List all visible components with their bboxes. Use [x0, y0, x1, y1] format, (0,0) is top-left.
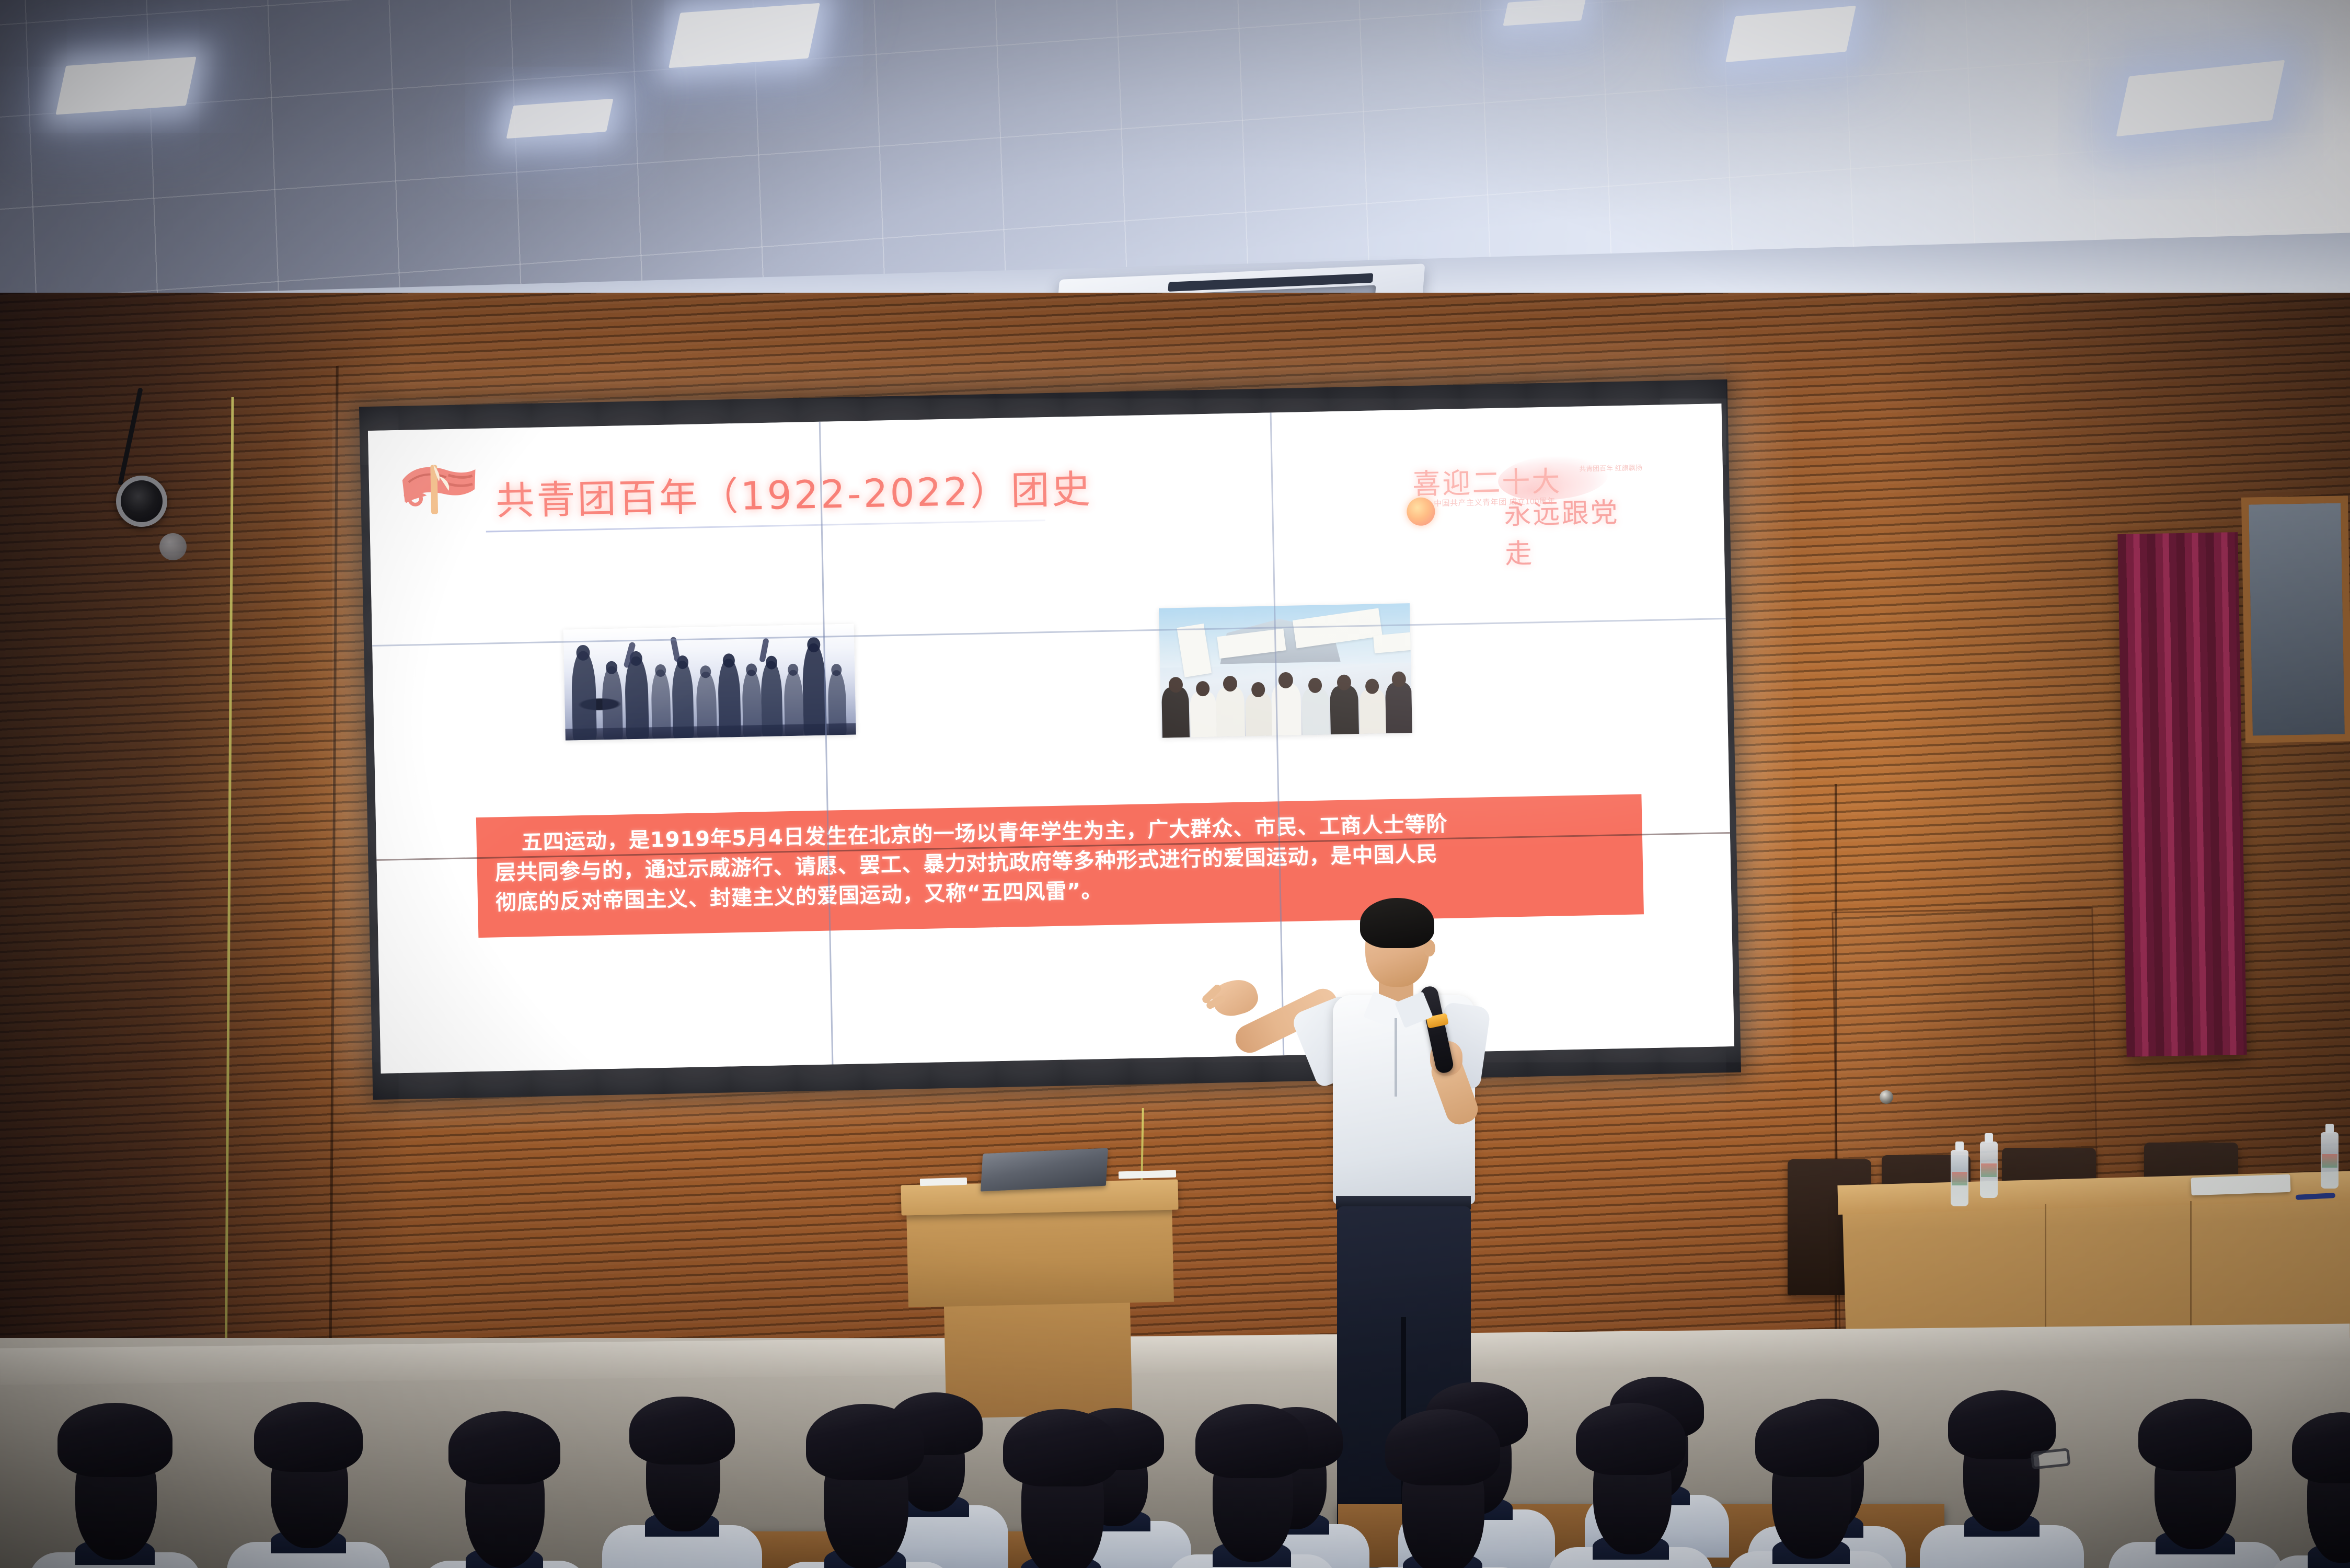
audience-member [1913, 1396, 2091, 1568]
door-knob-icon[interactable] [1880, 1090, 1893, 1104]
lecture-hall-scene: 共青团百年（1922-2022）团史 喜迎二十大 中国共产主义青年团 成立100… [0, 0, 2350, 1568]
papers[interactable] [2191, 1174, 2290, 1196]
window [2241, 495, 2350, 743]
led-panel-light [669, 3, 820, 68]
audience-member [220, 1406, 397, 1568]
audience-member [413, 1411, 596, 1568]
audience-member [21, 1406, 209, 1568]
audience-member [1160, 1406, 1343, 1568]
audience-member [2101, 1401, 2289, 1568]
wall-shadow-left [0, 293, 408, 1369]
water-bottle[interactable] [2321, 1132, 2339, 1189]
podium-paper [1119, 1170, 1176, 1179]
audience-member [596, 1401, 768, 1568]
water-bottle[interactable] [1980, 1142, 1998, 1198]
audience-member [2263, 1411, 2350, 1568]
audience-member [1542, 1406, 1720, 1568]
audience [0, 1270, 2350, 1568]
led-panel-light [55, 56, 196, 114]
audience-member [768, 1406, 962, 1568]
audience-member [1720, 1406, 1903, 1568]
audience-member [1349, 1411, 1537, 1568]
laptop[interactable] [981, 1148, 1108, 1191]
presenter-hair [1360, 898, 1434, 948]
wall-plate-icon [159, 533, 187, 560]
presenter-shirt-placket [1395, 1018, 1397, 1097]
audience-member [967, 1411, 1155, 1568]
wall-speaker-icon [116, 476, 167, 527]
water-bottle[interactable] [1951, 1150, 1968, 1206]
eyeglasses-icon [2030, 1448, 2070, 1470]
curtain [2117, 532, 2247, 1057]
podium-paper [920, 1178, 967, 1186]
